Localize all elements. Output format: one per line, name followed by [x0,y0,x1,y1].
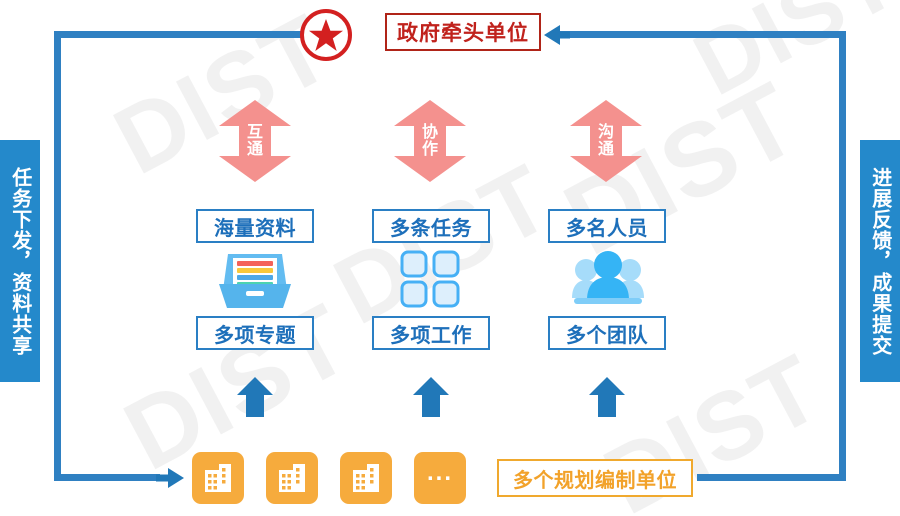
box-mass-materials[interactable]: 海量资料 [196,209,314,243]
side-panel-left-label: 任务下发，资料共享 [7,167,33,356]
double-arrow-column-3: 沟通 [570,100,642,182]
arrow-into-gov-box [544,23,570,47]
government-lead-unit-box[interactable]: 政府牵头单位 [385,13,541,51]
diagram-canvas: DIST DIST DIST DIST DIST DIST 任务下发，资料共享 … [0,0,900,516]
double-arrow-column-2: 协作 [394,100,466,182]
frame-right-vertical [839,31,846,481]
box-multiple-personnel-label: 多名人员 [566,212,648,241]
side-panel-right-label: 进展反馈，成果提交 [867,167,893,356]
up-arrow-column-3 [589,377,625,417]
box-mass-materials-label: 海量资料 [214,212,296,241]
box-multiple-tasks-label: 多条任务 [390,212,472,241]
frame-top-left-segment [54,31,302,38]
frame-bottom-right-segment [697,474,846,481]
frame-top-right-segment [560,31,846,38]
box-multiple-teams[interactable]: 多个团队 [548,316,666,350]
double-arrow-column-1: 互通 [219,100,291,182]
up-arrow-column-2 [413,377,449,417]
box-multiple-teams-label: 多个团队 [566,319,648,348]
side-panel-left: 任务下发，资料共享 [0,140,40,382]
building-icon[interactable] [340,452,392,504]
box-multiple-works[interactable]: 多项工作 [372,316,490,350]
box-multiple-tasks[interactable]: 多条任务 [372,209,490,243]
red-star-icon [300,9,352,61]
planning-units-label: 多个规划编制单位 [513,464,677,493]
frame-bottom-left-segment [54,474,160,481]
planning-units-box[interactable]: 多个规划编制单位 [497,459,693,497]
file-tray-icon [212,248,298,310]
box-multiple-topics-label: 多项专题 [214,319,296,348]
side-panel-right: 进展反馈，成果提交 [860,140,900,382]
team-people-icon [570,248,646,310]
box-multiple-works-label: 多项工作 [390,319,472,348]
ellipsis-icon[interactable]: ... [414,452,466,504]
grid-squares-icon [398,250,464,308]
box-multiple-personnel[interactable]: 多名人员 [548,209,666,243]
up-arrow-column-1 [237,377,273,417]
building-icon[interactable] [266,452,318,504]
frame-left-vertical [54,31,61,481]
government-lead-unit-label: 政府牵头单位 [397,17,529,47]
watermark-text: DIST [678,0,900,117]
arrow-into-buildings [156,466,184,490]
box-multiple-topics[interactable]: 多项专题 [196,316,314,350]
building-icon[interactable] [192,452,244,504]
